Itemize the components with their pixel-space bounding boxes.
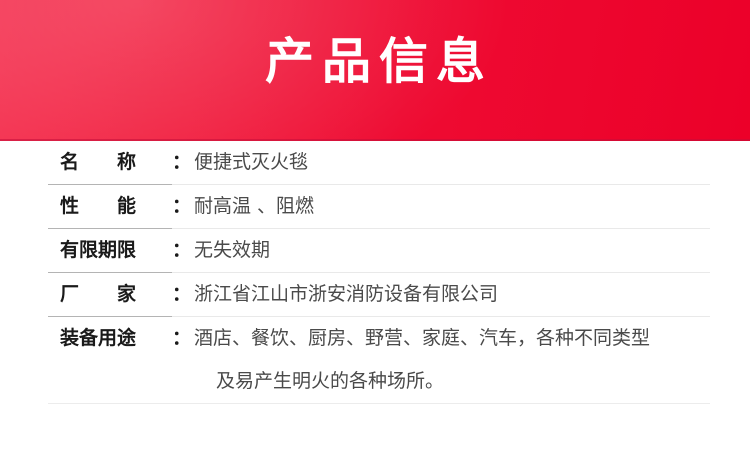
table-row: 名 称 ： 便捷式灭火毯 <box>0 141 750 184</box>
spec-label: 名 称 <box>60 141 172 184</box>
table-bottom-divider <box>48 403 710 404</box>
spec-value-line1: 酒店、餐饮、厨房、野营、家庭、汽车，各种不同类型 <box>194 327 650 349</box>
spec-value: 无失效期 <box>194 229 750 272</box>
table-row: 性 能 ： 耐高温 、阻燃 <box>0 185 750 228</box>
spec-value-line2: 及易产生明火的各种场所。 <box>216 360 750 403</box>
spec-colon: ： <box>172 141 191 184</box>
spec-table: 名 称 ： 便捷式灭火毯 性 能 ： 耐高温 、阻燃 有限期限 ： 无失效期 厂… <box>0 141 750 404</box>
spec-label: 有限期限 <box>60 229 172 272</box>
spec-value: 耐高温 、阻燃 <box>194 185 750 228</box>
spec-value: 酒店、餐饮、厨房、野营、家庭、汽车，各种不同类型及易产生明火的各种场所。 <box>194 317 750 403</box>
spec-colon: ： <box>172 185 191 228</box>
spec-value: 便捷式灭火毯 <box>194 141 750 184</box>
table-row: 有限期限 ： 无失效期 <box>0 229 750 272</box>
spec-label: 厂 家 <box>60 273 172 316</box>
spec-colon: ： <box>172 229 191 272</box>
spec-label: 性 能 <box>60 185 172 228</box>
spec-colon: ： <box>172 273 191 316</box>
header-banner: 产品信息 <box>0 0 750 141</box>
spec-value: 浙江省江山市浙安消防设备有限公司 <box>194 273 750 316</box>
page-title: 产品信息 <box>0 33 750 91</box>
spec-colon: ： <box>172 317 191 360</box>
spec-label: 装备用途 <box>60 317 172 360</box>
table-row: 装备用途 ： 酒店、餐饮、厨房、野营、家庭、汽车，各种不同类型及易产生明火的各种… <box>0 317 750 403</box>
product-info-page: 产品信息 名 称 ： 便捷式灭火毯 性 能 ： 耐高温 、阻燃 有限期限 ： 无… <box>0 0 750 460</box>
table-row: 厂 家 ： 浙江省江山市浙安消防设备有限公司 <box>0 273 750 316</box>
